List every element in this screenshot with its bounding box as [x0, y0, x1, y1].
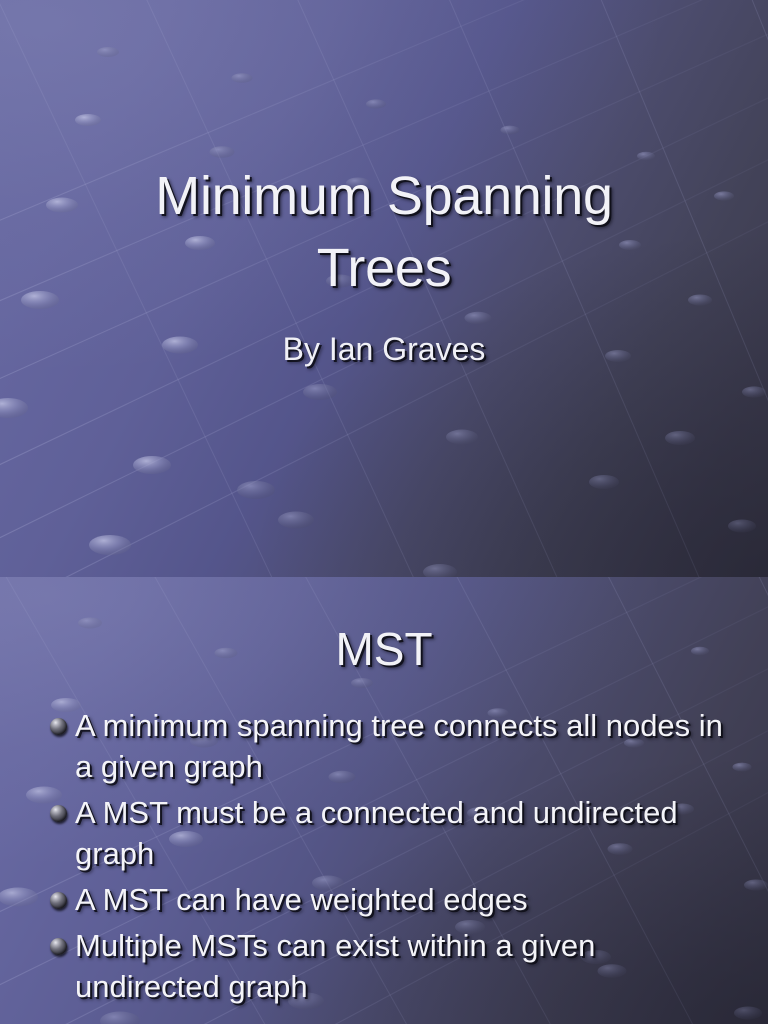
list-item: A minimum spanning tree connects all nod…	[44, 705, 744, 787]
page-title: Minimum Spanning Trees	[0, 160, 768, 304]
list-item: A MST must be a connected and undirected…	[44, 792, 744, 874]
list-item-label: A minimum spanning tree connects all nod…	[75, 708, 723, 784]
title-slide: Minimum Spanning Trees By Ian Graves	[0, 0, 768, 577]
list-item-label: Multiple MSTs can exist within a given u…	[75, 928, 595, 1004]
list-item-label: A MST must be a connected and undirected…	[75, 795, 678, 871]
sphere-bullet-icon	[50, 938, 67, 955]
list-item: Multiple MSTs can exist within a given u…	[44, 925, 744, 1007]
sphere-bullet-icon	[50, 892, 67, 909]
list-item-label: A MST can have weighted edges	[75, 882, 528, 917]
sphere-bullet-icon	[50, 805, 67, 822]
slide-heading: MST	[0, 620, 768, 678]
list-item: A MST can have weighted edges	[44, 879, 744, 920]
slide-subtitle: By Ian Graves	[0, 328, 768, 370]
bullet-list: A minimum spanning tree connects all nod…	[44, 705, 744, 1012]
sphere-bullet-icon	[50, 718, 67, 735]
slide-deck: Minimum Spanning Trees By Ian Graves	[0, 0, 768, 1024]
mst-slide: MST A minimum spanning tree connects all…	[0, 577, 768, 1024]
